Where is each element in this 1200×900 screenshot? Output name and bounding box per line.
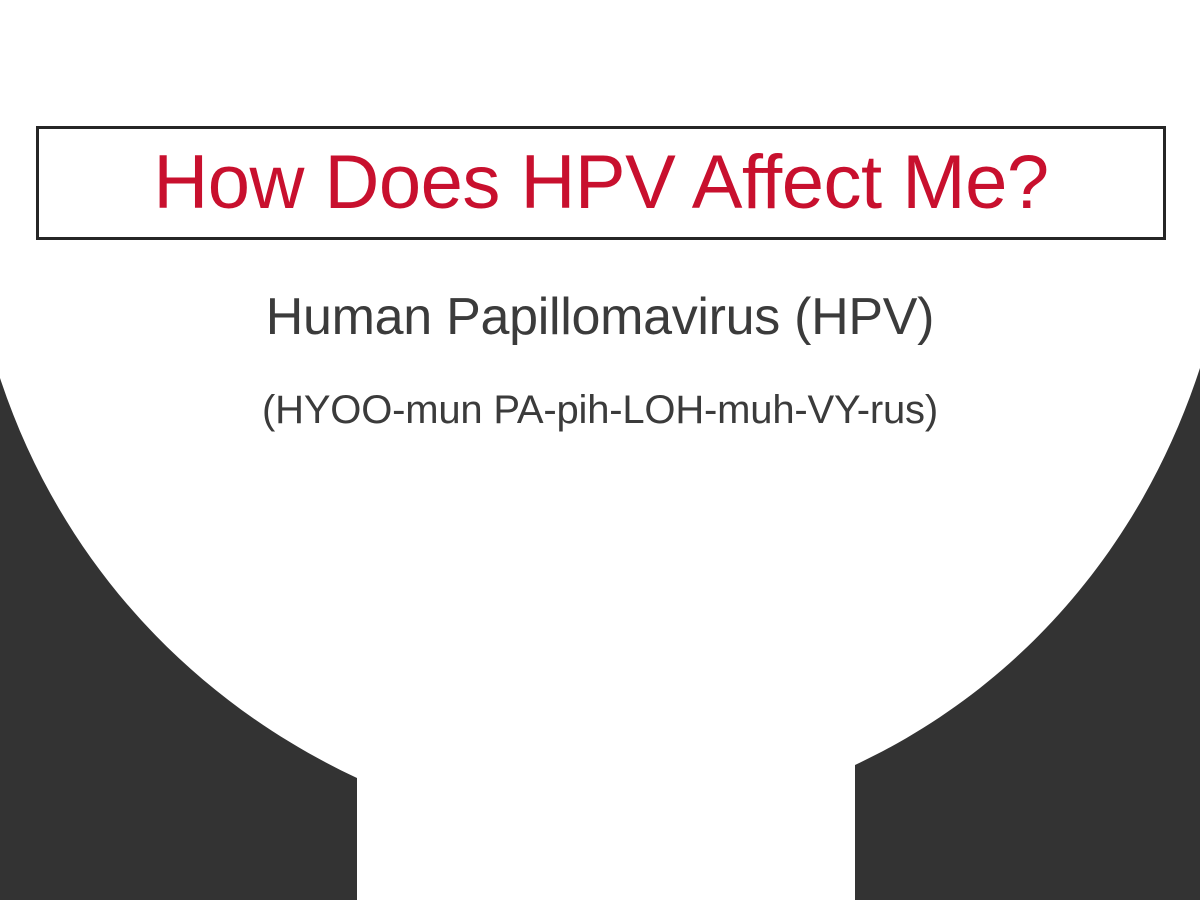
left-dark-curve-shape bbox=[0, 378, 357, 900]
subtitle-pronunciation: (HYOO-mun PA-pih-LOH-muh-VY-rus) bbox=[0, 388, 1200, 433]
right-dark-curve-shape bbox=[855, 368, 1200, 900]
subtitle-block: Human Papillomavirus (HPV) (HYOO-mun PA-… bbox=[0, 288, 1200, 433]
title-box: How Does HPV Affect Me? bbox=[36, 126, 1166, 240]
slide-canvas: How Does HPV Affect Me? Human Papillomav… bbox=[0, 0, 1200, 900]
subtitle-virus-name: Human Papillomavirus (HPV) bbox=[0, 288, 1200, 346]
page-title: How Does HPV Affect Me? bbox=[153, 145, 1048, 221]
